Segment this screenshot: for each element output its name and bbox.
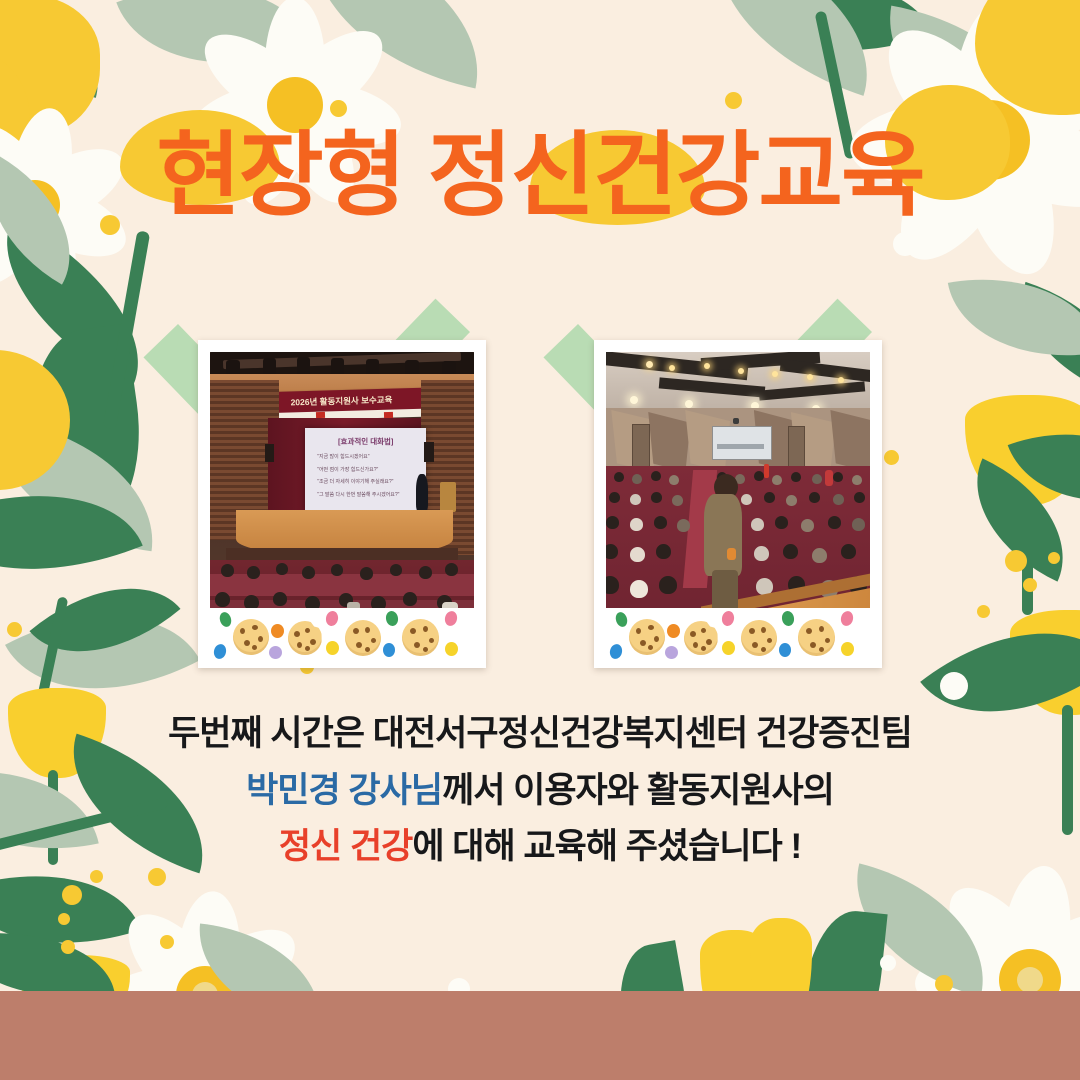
confetti-dot	[58, 913, 70, 925]
leaf-shape	[688, 0, 898, 96]
topic-highlight: 정신 건강	[279, 827, 413, 866]
stem-shape	[1062, 705, 1073, 835]
stem-shape	[103, 230, 151, 429]
event-banner-text: 2026년 활동지원사 보수교육	[291, 394, 393, 409]
page-title: 현장형 정신건강교육	[0, 128, 1080, 225]
candy-dot	[324, 610, 339, 627]
slide-line: "지금 많이 힘드시겠어요"	[317, 453, 417, 460]
caption-line-2: 박민경 강사님께서 이용자와 활동지원사의	[60, 763, 1020, 820]
yellow-flower	[0, 350, 120, 530]
confetti-dot	[725, 92, 742, 109]
leaf-shape	[0, 419, 167, 552]
confetti-dot	[62, 885, 82, 905]
slide-title: [효과적인 대화법]	[305, 436, 426, 447]
candy-dot	[841, 642, 854, 656]
leaf-shape	[29, 548, 180, 693]
photo-right	[606, 352, 870, 608]
candy-dot	[614, 611, 629, 629]
candy-dot	[722, 641, 735, 655]
candy-dot	[444, 610, 459, 627]
confetti-dot	[61, 940, 75, 954]
caption-line-1: 두번째 시간은 대전서구정신건강복지센터 건강증진팀	[60, 706, 1020, 763]
candy-dot	[271, 624, 284, 638]
caption-block: 두번째 시간은 대전서구정신건강복지센터 건강증진팀 박민경 강사님께서 이용자…	[60, 706, 1020, 876]
slide-line: "그 말씀 다시 한번 말씀해 주시겠어요?"	[317, 491, 417, 498]
confetti-dot	[160, 935, 174, 949]
cookie-icon	[402, 619, 439, 656]
candy-dot	[665, 646, 678, 659]
cookie-icon	[629, 619, 665, 655]
candy-dot	[383, 643, 395, 657]
leaf-shape	[835, 863, 1005, 996]
photo-frame-right[interactable]	[594, 340, 882, 668]
leaf-shape	[948, 259, 1080, 377]
instructor-name: 박민경 강사님	[246, 771, 442, 810]
candy-dot	[779, 643, 791, 657]
cookie-bitten-icon	[684, 621, 718, 655]
presenter-figure	[704, 494, 742, 576]
confetti-dot	[940, 672, 968, 700]
leaf-shape	[1008, 401, 1080, 535]
leaf-shape	[290, 0, 501, 88]
confetti-dot	[7, 622, 22, 637]
cookie-bitten-icon	[288, 621, 322, 655]
candy-dot	[667, 624, 680, 638]
candy-dot	[213, 643, 228, 660]
confetti-dot	[977, 605, 990, 618]
confetti-dot	[1023, 578, 1037, 592]
candy-dot	[218, 611, 233, 629]
bottom-color-bar	[0, 991, 1080, 1080]
leaf-shape	[1001, 282, 1080, 398]
yellow-tulip	[965, 395, 1080, 505]
cookie-icon	[798, 619, 835, 656]
candy-dot	[384, 610, 398, 627]
leaf-shape	[116, 0, 313, 106]
slide-line: "어떤 점이 가장 힘드신가요?"	[317, 466, 417, 473]
projection-screen: [효과적인 대화법] "지금 많이 힘드시겠어요" "어떤 점이 가장 힘드신가…	[305, 428, 426, 512]
cookie-decoration-strip-right	[602, 608, 874, 664]
caption-line-3-rest: 에 대해 교육해 주셨습니다 !	[412, 827, 801, 866]
cookie-icon	[741, 620, 777, 656]
back-projection-screen	[712, 426, 772, 460]
cookie-icon	[345, 620, 381, 656]
slide-line: "조금 더 자세히 이야기해 주실래요?"	[317, 478, 417, 485]
leaf-shape	[949, 458, 1080, 581]
cookie-decoration-strip-left	[206, 608, 478, 664]
leaf-shape	[0, 0, 119, 98]
caption-line-2-rest: 께서 이용자와 활동지원사의	[442, 771, 834, 810]
leaf-shape	[758, 0, 933, 90]
confetti-dot	[1005, 550, 1027, 572]
photo-left: 2026년 활동지원사 보수교육 [효과적인 대화법] "지금 많이 힘드시겠어…	[210, 352, 474, 608]
confetti-dot	[880, 955, 896, 971]
photo-frame-left[interactable]: 2026년 활동지원사 보수교육 [효과적인 대화법] "지금 많이 힘드시겠어…	[198, 340, 486, 668]
confetti-dot	[893, 232, 917, 256]
leaf-shape	[976, 13, 1080, 137]
leaf-shape	[0, 448, 143, 617]
confetti-dot	[330, 100, 347, 117]
stem-shape	[48, 770, 58, 865]
confetti-dot	[884, 450, 899, 465]
leaf-shape	[17, 323, 154, 536]
candy-dot	[780, 610, 794, 627]
cookie-icon	[233, 619, 269, 655]
caption-line-3: 정신 건강에 대해 교육해 주셨습니다 !	[60, 819, 1020, 876]
yellow-tulip	[1010, 610, 1080, 715]
stem-shape	[1022, 495, 1033, 615]
candy-dot	[840, 610, 855, 627]
stem-shape	[34, 596, 69, 715]
candy-dot	[326, 641, 339, 655]
candy-dot	[269, 646, 282, 659]
candy-dot	[720, 610, 735, 627]
presenter-figure	[416, 474, 428, 512]
confetti-dot	[1048, 552, 1060, 564]
candy-dot	[445, 642, 458, 656]
candy-dot	[609, 643, 624, 660]
poster-card: 현장형 정신건강교육 2026년 활동지원사 보수교	[0, 0, 1080, 1080]
